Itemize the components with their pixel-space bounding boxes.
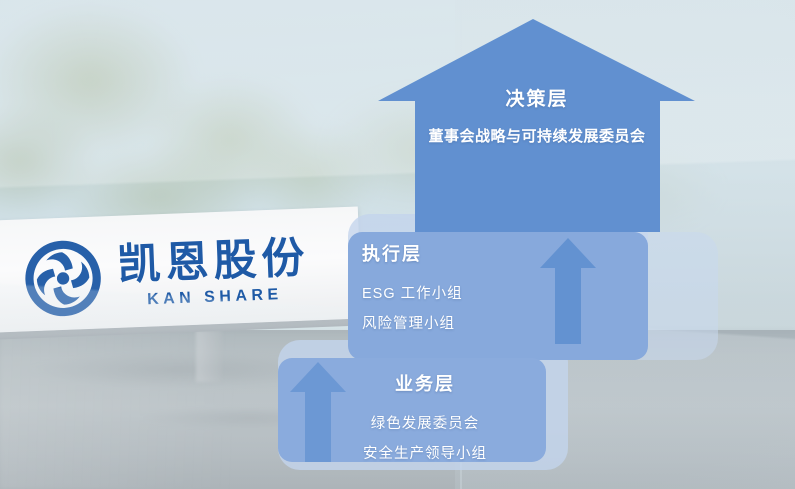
execution-layer-title: 执行层: [362, 240, 463, 266]
execution-layer-text: 执行层 ESG 工作小组 风险管理小组: [362, 240, 463, 333]
business-layer-text: 业务层 绿色发展委员会 安全生产领导小组: [305, 370, 545, 463]
governance-structure-diagram: 决策层 董事会战略与可持续发展委员会 执行层 ESG 工作小组 风险管理小组 业…: [0, 0, 795, 489]
execution-layer-line-1: ESG 工作小组: [362, 282, 463, 303]
execution-layer-line-2: 风险管理小组: [362, 312, 463, 333]
business-layer-title: 业务层: [305, 370, 545, 396]
business-layer-line-1: 绿色发展委员会: [305, 412, 545, 433]
decision-layer-title: 决策层: [378, 84, 696, 111]
business-layer-line-2: 安全生产领导小组: [305, 442, 545, 463]
decision-layer-line-1: 董事会战略与可持续发展委员会: [378, 125, 696, 146]
diagram-canvas: 凯恩股份 KAN SHARE 决策层: [0, 0, 795, 489]
decision-layer-text: 决策层 董事会战略与可持续发展委员会: [378, 84, 696, 146]
